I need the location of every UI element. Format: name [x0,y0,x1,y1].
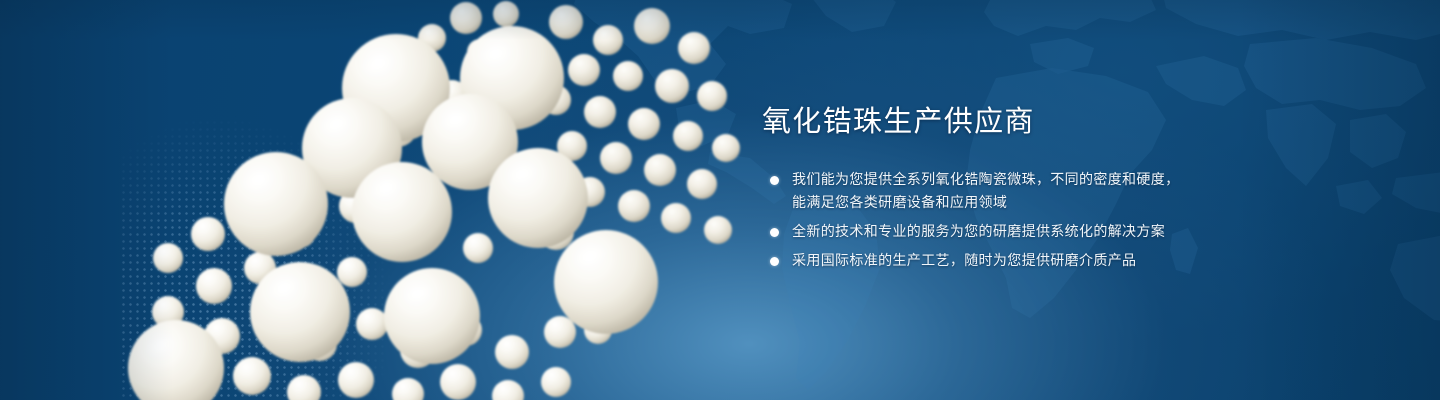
list-item-text: 全新的技术和专业的服务为您的研磨提供系统化的解决方案 [792,224,1165,240]
bullet-dot-icon [770,176,779,185]
list-item: 全新的技术和专业的服务为您的研磨提供系统化的解决方案 [762,221,1192,244]
list-item-text: 我们能为您提供全系列氧化锆陶瓷微珠，不同的密度和硬度，能满足您各类研磨设备和应用… [792,172,1179,211]
list-item: 我们能为您提供全系列氧化锆陶瓷微珠，不同的密度和硬度，能满足您各类研磨设备和应用… [762,169,1192,215]
list-item-text: 采用国际标准的生产工艺，随时为您提供研磨介质产品 [792,253,1136,269]
bullet-dot-icon [770,257,779,266]
page-title: 氧化锆珠生产供应商 [762,104,1322,139]
list-item: 采用国际标准的生产工艺，随时为您提供研磨介质产品 [762,250,1192,273]
banner-copy: 氧化锆珠生产供应商 我们能为您提供全系列氧化锆陶瓷微珠，不同的密度和硬度，能满足… [762,104,1322,273]
feature-list: 我们能为您提供全系列氧化锆陶瓷微珠，不同的密度和硬度，能满足您各类研磨设备和应用… [762,169,1322,273]
hero-banner: 氧化锆珠生产供应商 我们能为您提供全系列氧化锆陶瓷微珠，不同的密度和硬度，能满足… [0,0,1440,400]
bullet-dot-icon [770,228,779,237]
